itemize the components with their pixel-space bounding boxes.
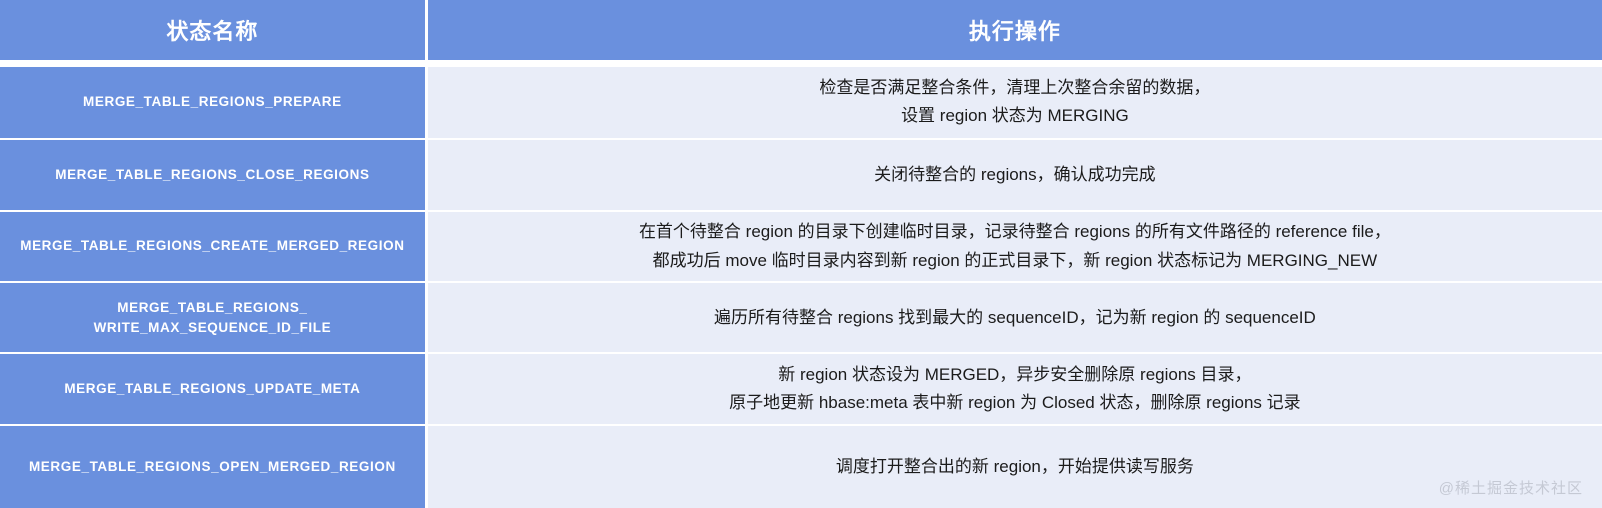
column-header-state-name: 状态名称 [0, 0, 428, 65]
action-description-cell: 在首个待整合 region 的目录下创建临时目录，记录待整合 regions 的… [428, 210, 1602, 282]
state-name-cell: MERGE_TABLE_REGIONS_CLOSE_REGIONS [0, 138, 428, 210]
table-body: MERGE_TABLE_REGIONS_PREPARE 检查是否满足整合条件，清… [0, 65, 1602, 508]
table-row: MERGE_TABLE_REGIONS_OPEN_MERGED_REGION 调… [0, 424, 1602, 508]
state-name-cell: MERGE_TABLE_REGIONS_CREATE_MERGED_REGION [0, 210, 428, 282]
action-description-cell: 新 region 状态设为 MERGED，异步安全删除原 regions 目录，… [428, 352, 1602, 424]
state-action-table: 状态名称 执行操作 MERGE_TABLE_REGIONS_PREPARE 检查… [0, 0, 1602, 508]
state-name-cell: MERGE_TABLE_REGIONS_UPDATE_META [0, 352, 428, 424]
action-description-cell: 调度打开整合出的新 region，开始提供读写服务 [428, 424, 1602, 508]
table-row: MERGE_TABLE_REGIONS_CLOSE_REGIONS 关闭待整合的… [0, 138, 1602, 210]
action-description-cell: 关闭待整合的 regions，确认成功完成 [428, 138, 1602, 210]
merge-table-regions-state-table: 状态名称 执行操作 MERGE_TABLE_REGIONS_PREPARE 检查… [0, 0, 1602, 508]
state-name-cell: MERGE_TABLE_REGIONS_OPEN_MERGED_REGION [0, 424, 428, 508]
action-description-cell: 检查是否满足整合条件，清理上次整合余留的数据， 设置 region 状态为 ME… [428, 65, 1602, 138]
state-name-cell: MERGE_TABLE_REGIONS_ WRITE_MAX_SEQUENCE_… [0, 281, 428, 352]
table-header: 状态名称 执行操作 [0, 0, 1602, 65]
table-header-row: 状态名称 执行操作 [0, 0, 1602, 65]
table-row: MERGE_TABLE_REGIONS_PREPARE 检查是否满足整合条件，清… [0, 65, 1602, 138]
column-header-action: 执行操作 [428, 0, 1602, 65]
table-row: MERGE_TABLE_REGIONS_ WRITE_MAX_SEQUENCE_… [0, 281, 1602, 352]
table-row: MERGE_TABLE_REGIONS_UPDATE_META 新 region… [0, 352, 1602, 424]
table-row: MERGE_TABLE_REGIONS_CREATE_MERGED_REGION… [0, 210, 1602, 282]
action-description-cell: 遍历所有待整合 regions 找到最大的 sequenceID，记为新 reg… [428, 281, 1602, 352]
state-name-cell: MERGE_TABLE_REGIONS_PREPARE [0, 65, 428, 138]
